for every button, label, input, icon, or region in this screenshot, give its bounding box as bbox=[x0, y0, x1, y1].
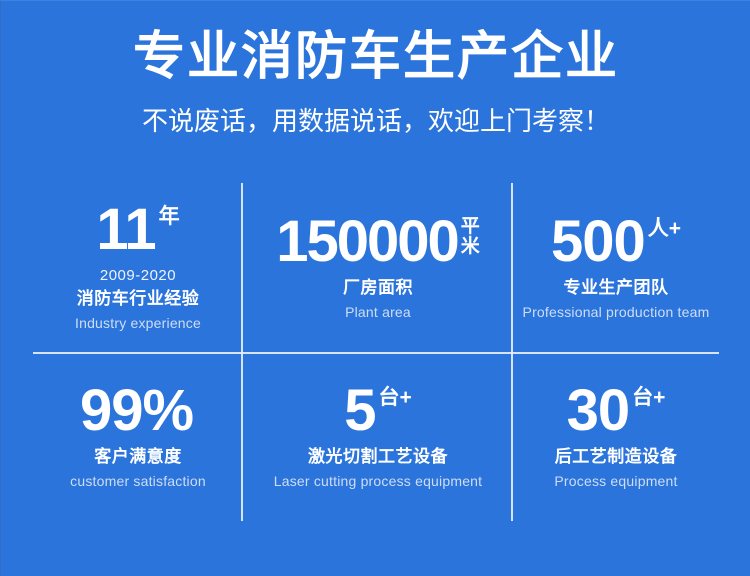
stat-number-row: 99% bbox=[80, 383, 196, 438]
stat-number: 150000 bbox=[276, 214, 458, 269]
stat-label-cn: 消防车行业经验 bbox=[77, 288, 200, 311]
stat-cell-process-equipment: 30 台+ 后工艺制造设备 Process equipment bbox=[513, 352, 719, 521]
stat-label-en: Laser cutting process equipment bbox=[274, 472, 483, 490]
stat-label-cn: 后工艺制造设备 bbox=[555, 446, 678, 469]
stat-number: 30 bbox=[567, 383, 630, 438]
promo-banner: 专业消防车生产企业 不说废话，用数据说话，欢迎上门考察！ 11 年 2009-2… bbox=[0, 0, 750, 576]
stat-unit: 人+ bbox=[648, 214, 681, 240]
stats-grid: 11 年 2009-2020 消防车行业经验 Industry experien… bbox=[33, 183, 719, 521]
stat-unit: 台+ bbox=[632, 383, 665, 409]
stat-label-en: Professional production team bbox=[523, 303, 710, 321]
stat-number: 500 bbox=[551, 214, 645, 269]
stat-number-row: 150000 平 米 bbox=[276, 214, 480, 269]
stat-cell-production-team: 500 人+ 专业生产团队 Professional production te… bbox=[513, 183, 719, 352]
stat-label-cn: 激光切割工艺设备 bbox=[308, 446, 448, 469]
stat-label-en: customer satisfaction bbox=[70, 472, 206, 490]
stat-label-cn: 专业生产团队 bbox=[564, 277, 669, 300]
stat-number-row: 30 台+ bbox=[567, 383, 666, 438]
page-title: 专业消防车生产企业 bbox=[1, 27, 750, 88]
stat-label-cn: 客户满意度 bbox=[94, 446, 182, 469]
stat-year-range: 2009-2020 bbox=[100, 267, 176, 285]
stat-unit: 平 米 bbox=[461, 214, 480, 258]
stat-number-row: 5 台+ bbox=[344, 383, 412, 438]
stat-cell-customer-satisfaction: 99% 客户满意度 customer satisfaction bbox=[33, 352, 243, 521]
banner-header: 专业消防车生产企业 不说废话，用数据说话，欢迎上门考察！ bbox=[1, 1, 750, 138]
stat-cell-industry-experience: 11 年 2009-2020 消防车行业经验 Industry experien… bbox=[33, 183, 243, 352]
stat-cell-laser-cutting: 5 台+ 激光切割工艺设备 Laser cutting process equi… bbox=[243, 352, 513, 521]
stat-number: 99% bbox=[80, 383, 193, 438]
page-subtitle: 不说废话，用数据说话，欢迎上门考察！ bbox=[1, 106, 750, 137]
stat-number: 11 bbox=[96, 202, 155, 257]
stat-label-en: Plant area bbox=[345, 303, 411, 321]
stat-label-en: Process equipment bbox=[554, 472, 677, 490]
stat-number-row: 11 年 bbox=[96, 202, 179, 257]
stat-unit-top: 平 bbox=[461, 217, 480, 238]
stat-unit: 年 bbox=[159, 202, 180, 228]
stat-cell-plant-area: 150000 平 米 厂房面积 Plant area bbox=[243, 183, 513, 352]
stat-number: 5 bbox=[344, 383, 375, 438]
stat-label-cn: 厂房面积 bbox=[343, 277, 413, 300]
stat-unit-bottom: 米 bbox=[461, 237, 480, 258]
stat-label-en: Industry experience bbox=[75, 314, 201, 332]
stat-unit: 台+ bbox=[379, 383, 412, 409]
stat-number-row: 500 人+ bbox=[551, 214, 681, 269]
